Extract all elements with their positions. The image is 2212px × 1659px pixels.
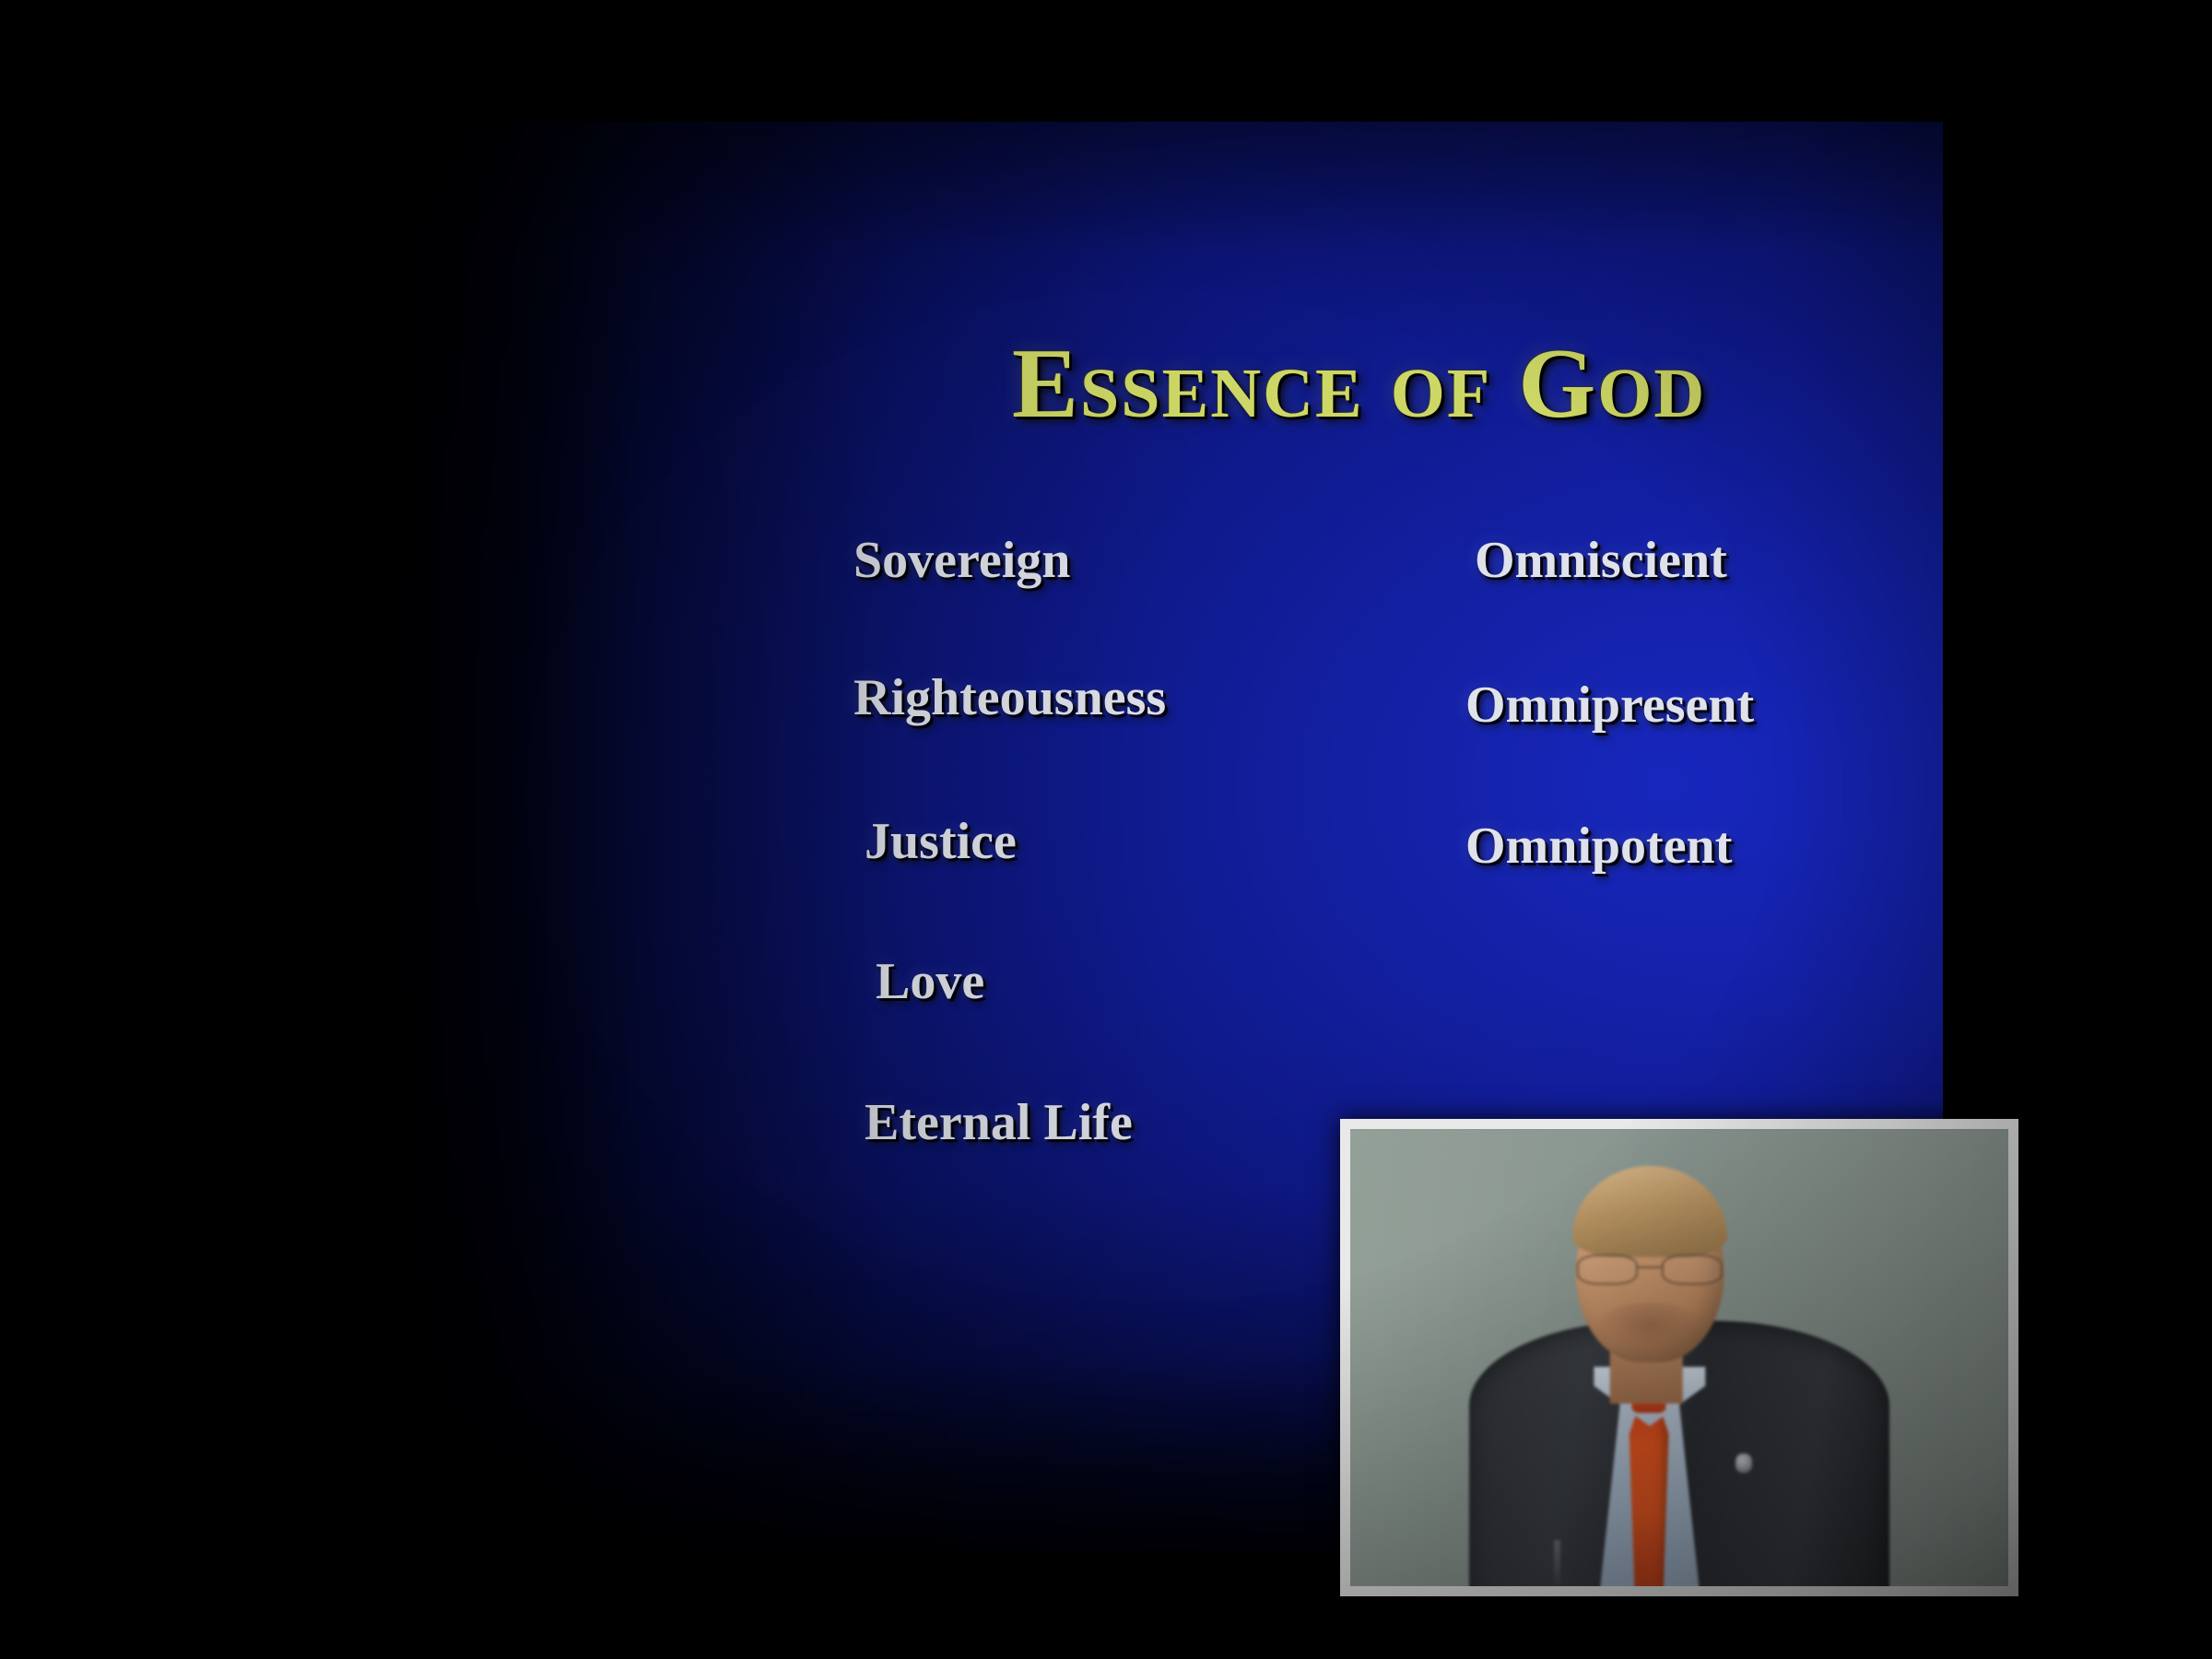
slide-column-attributes: Sovereign Righteousness Justice Love Ete… bbox=[850, 535, 1440, 1148]
speaker-necktie bbox=[1630, 1404, 1669, 1586]
slide-title: Essence of God bbox=[1012, 332, 1706, 436]
slide-bullet: Omnipotent bbox=[1465, 820, 2037, 872]
slide-bullet: Sovereign bbox=[853, 535, 1440, 586]
speaker-face-shadow bbox=[1594, 1302, 1705, 1358]
microphone-stand bbox=[1554, 1540, 1559, 1586]
screenshot-root: Essence of God Sovereign Righteousness J… bbox=[0, 0, 2212, 1659]
glasses-left-lens bbox=[1577, 1254, 1638, 1284]
glasses-bridge bbox=[1638, 1266, 1662, 1268]
slide-bullet: Love bbox=[876, 956, 1440, 1007]
slide-bullet: Omniscient bbox=[1475, 535, 2037, 586]
slide-bullet: Righteousness bbox=[853, 672, 1440, 724]
glasses-right-lens bbox=[1662, 1254, 1723, 1284]
speaker-video-frame bbox=[1350, 1129, 2008, 1586]
speaker-lapel-pin bbox=[1735, 1453, 1753, 1473]
slide-bullet: Justice bbox=[865, 816, 1440, 867]
slide-bullet: Omnipresent bbox=[1465, 679, 2037, 731]
speaker-glasses bbox=[1574, 1254, 1725, 1284]
speaker-video-inset bbox=[1340, 1119, 2018, 1596]
slide-column-omni-attributes: Omniscient Omnipresent Omnipotent bbox=[1465, 535, 2037, 872]
